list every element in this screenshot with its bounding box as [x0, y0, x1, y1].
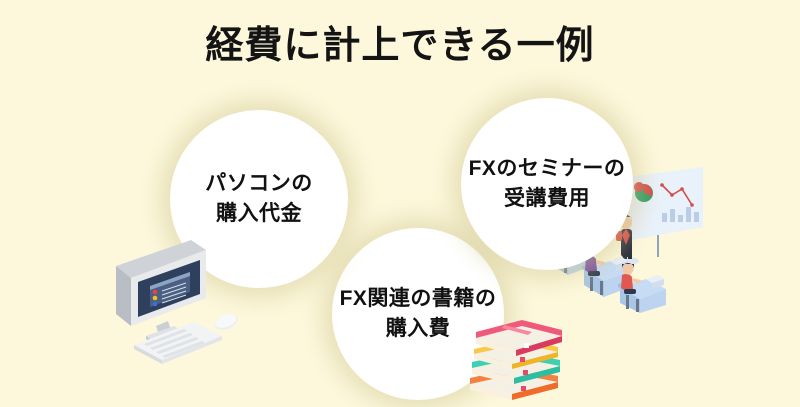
stack-of-books-icon — [458, 312, 573, 402]
bubble-seminar: FXのセミナーの 受講費用 — [461, 98, 633, 270]
desktop-computer-icon — [98, 222, 258, 367]
keyboard — [134, 322, 222, 364]
books-svg — [458, 312, 573, 402]
desktop-computer-svg — [98, 222, 258, 367]
bubble-pc-label: パソコンの 購入代金 — [199, 169, 319, 230]
mouse — [212, 311, 239, 332]
presentation-board — [626, 167, 703, 257]
page-title: 経費に計上できる一例 — [0, 26, 800, 68]
attendee-3 — [618, 263, 666, 313]
poster-canvas: 経費に計上できる一例 パソコンの 購入代金 FX関連の書籍の 購入費 FXのセミ… — [0, 0, 800, 400]
bubble-seminar-label: FXのセミナーの 受講費用 — [463, 154, 632, 215]
